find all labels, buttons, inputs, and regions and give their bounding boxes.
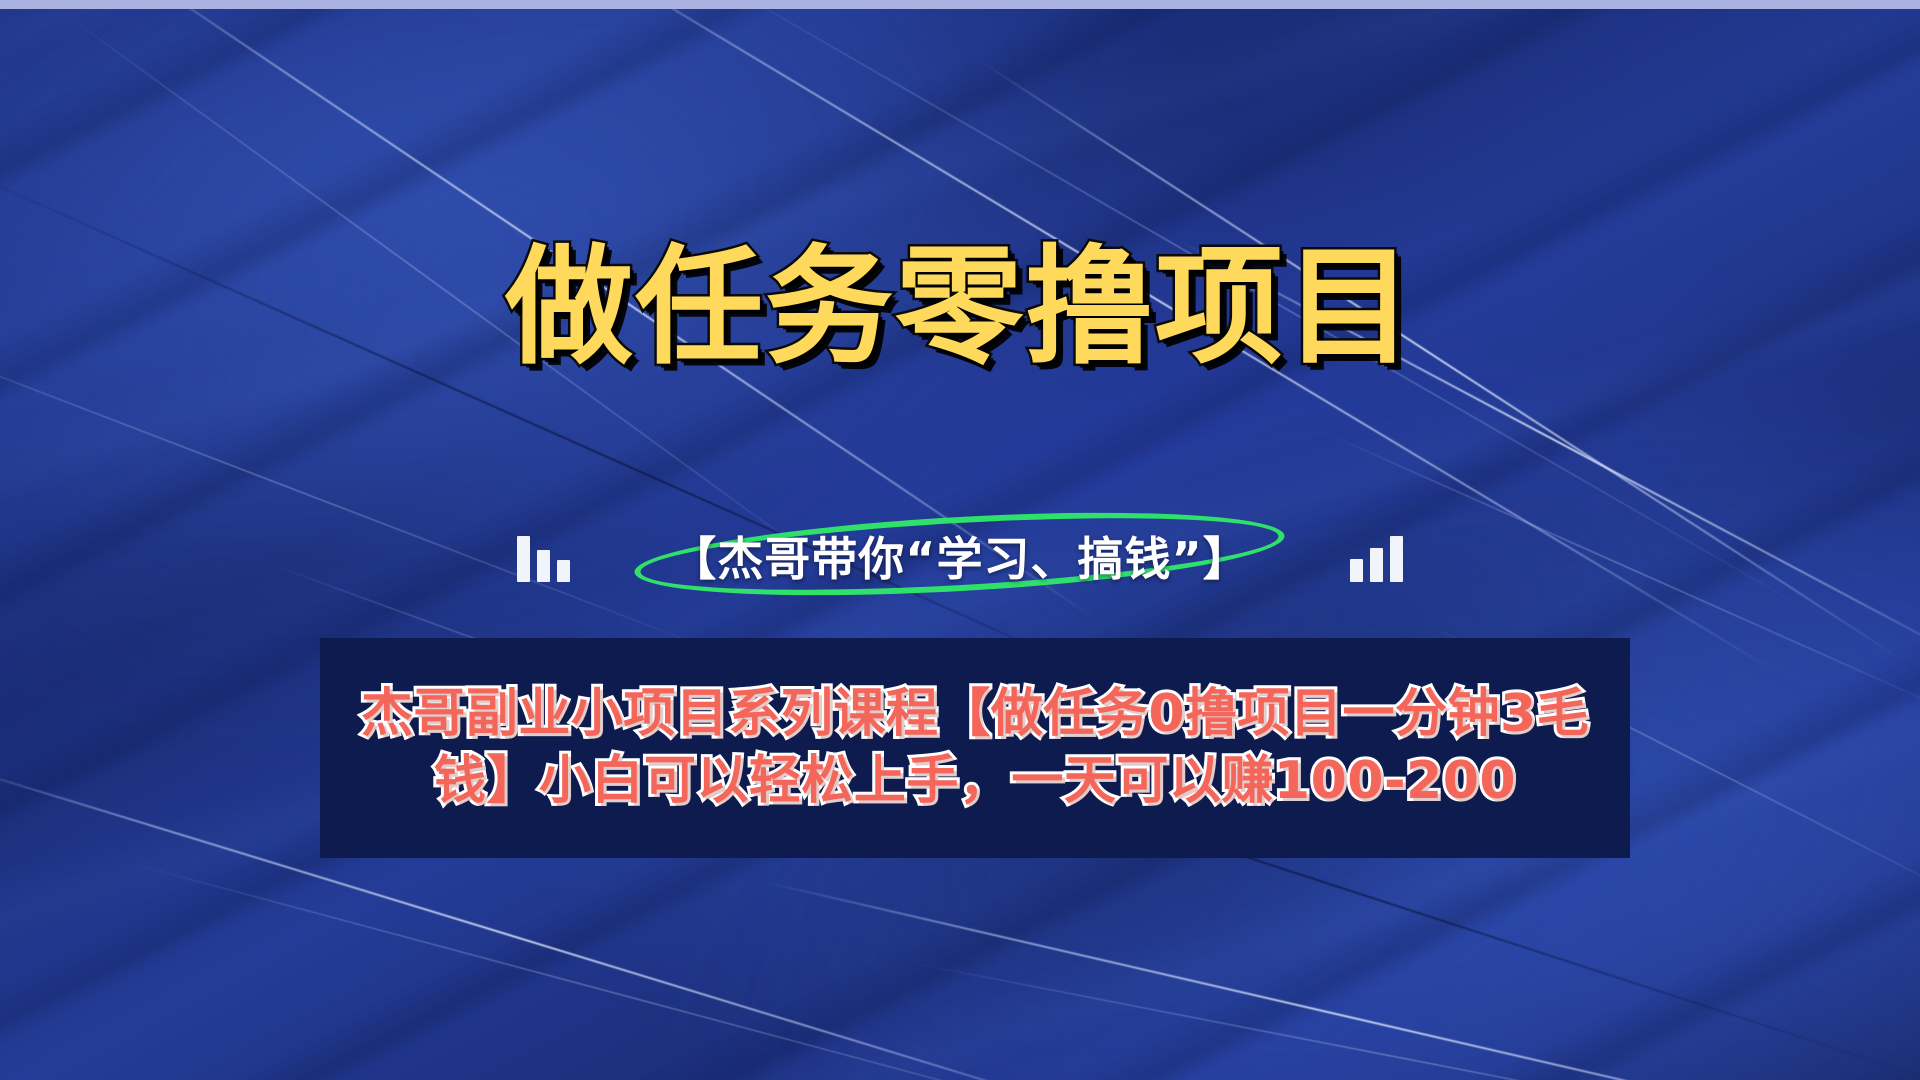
subtitle-highlight: 【杰哥带你“学习、搞钱”】 bbox=[626, 519, 1293, 599]
top-accent-strip bbox=[0, 0, 1920, 9]
bar-chart-ascending-icon bbox=[1350, 536, 1403, 582]
description-text: 杰哥副业小项目系列课程【做任务0撸项目一分钟3毛钱】小白可以轻松上手，一天可以赚… bbox=[334, 681, 1616, 814]
page-title: 做任务零撸项目 bbox=[0, 240, 1920, 374]
subtitle-row: 【杰哥带你“学习、搞钱”】 bbox=[0, 516, 1920, 602]
description-box: 杰哥副业小项目系列课程【做任务0撸项目一分钟3毛钱】小白可以轻松上手，一天可以赚… bbox=[320, 638, 1630, 858]
subtitle-text: 【杰哥带你“学习、搞钱”】 bbox=[670, 532, 1249, 586]
poster-canvas: 做任务零撸项目 【杰哥带你“学习、搞钱”】 杰哥副业小项目系列课程【做任务0撸项… bbox=[0, 0, 1920, 1080]
bar-chart-descending-icon bbox=[517, 536, 570, 582]
